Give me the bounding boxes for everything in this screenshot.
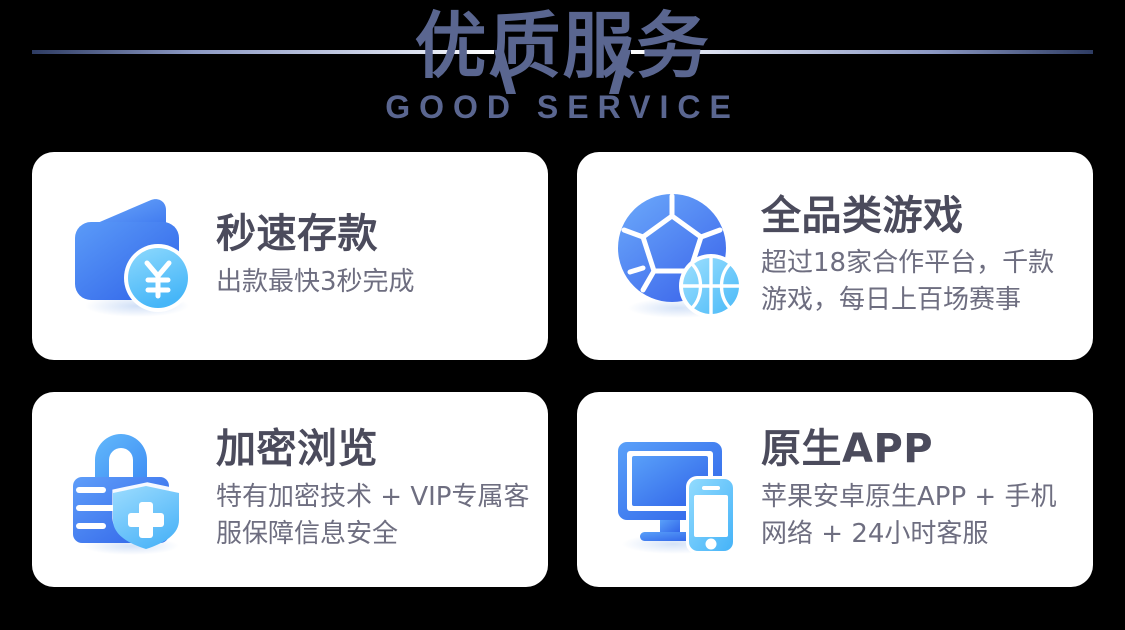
card-title: 原生APP — [761, 426, 1075, 472]
header-title-block: 优质服务 GOOD SERVICE — [0, 8, 1125, 125]
monitor-phone-icon — [605, 415, 755, 565]
feature-card-text: 全品类游戏 超过18家合作平台，千款游戏，每日上百场赛事 — [755, 193, 1075, 319]
card-title: 加密浏览 — [216, 426, 530, 472]
card-subtitle: 苹果安卓原生APP + 手机网络 + 24小时客服 — [761, 479, 1075, 553]
feature-card-text: 秒速存款 出款最快3秒完成 — [210, 211, 530, 300]
feature-card-text: 加密浏览 特有加密技术 + VIP专属客服保障信息安全 — [210, 426, 530, 552]
feature-card-games[interactable]: 全品类游戏 超过18家合作平台，千款游戏，每日上百场赛事 — [577, 152, 1093, 360]
page-subtitle: GOOD SERVICE — [0, 90, 1125, 125]
page-title: 优质服务 — [0, 8, 1125, 86]
lock-shield-icon — [60, 415, 210, 565]
card-subtitle: 超过18家合作平台，千款游戏，每日上百场赛事 — [761, 245, 1075, 319]
feature-card-grid: 秒速存款 出款最快3秒完成 — [32, 152, 1093, 587]
header: 优质服务 GOOD SERVICE — [0, 0, 1125, 146]
feature-card-deposit[interactable]: 秒速存款 出款最快3秒完成 — [32, 152, 548, 360]
card-title: 秒速存款 — [216, 211, 530, 257]
feature-card-native-app[interactable]: 原生APP 苹果安卓原生APP + 手机网络 + 24小时客服 — [577, 392, 1093, 587]
feature-card-text: 原生APP 苹果安卓原生APP + 手机网络 + 24小时客服 — [755, 426, 1075, 552]
promo-banner: 优质服务 GOOD SERVICE — [0, 0, 1125, 630]
soccer-basketball-icon — [605, 181, 755, 331]
card-subtitle: 特有加密技术 + VIP专属客服保障信息安全 — [216, 479, 530, 553]
feature-card-encryption[interactable]: 加密浏览 特有加密技术 + VIP专属客服保障信息安全 — [32, 392, 548, 587]
wallet-yen-icon — [60, 181, 210, 331]
card-title: 全品类游戏 — [761, 193, 1075, 239]
card-subtitle: 出款最快3秒完成 — [216, 264, 530, 301]
